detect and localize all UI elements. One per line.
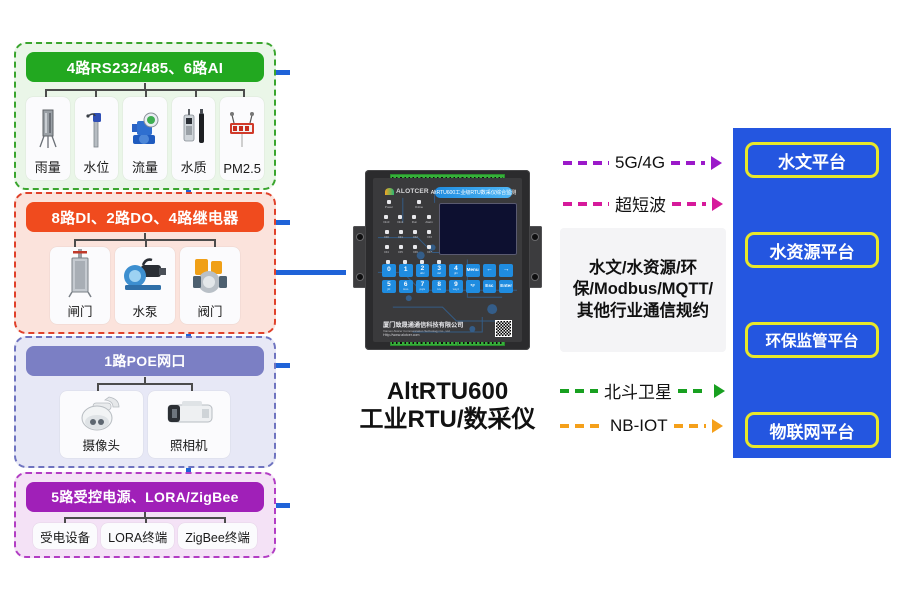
protocol-list-text: 水文/水资源/环保/Modbus/MQTT/其他行业通信规约: [566, 258, 720, 321]
key-0[interactable]: 0: [382, 264, 396, 277]
key-1[interactable]: 1: [399, 264, 413, 277]
sluice-gate-icon: [52, 247, 108, 299]
rtu-keypad[interactable]: 0 1 2abc 3def 4ghi Menu ← → 5jkl 6mno 7p…: [382, 264, 513, 296]
led-din0: Din0: [383, 215, 390, 224]
dash-line-right: [671, 161, 705, 165]
key-right-arrow[interactable]: →: [499, 264, 513, 277]
group-serial-ai: 4路RS232/485、6路AI 雨量: [14, 42, 276, 190]
group-dido-tiles: 闸门 水泵: [26, 247, 264, 324]
device-title-type: 工业RTU/数采仪: [330, 406, 565, 434]
comm-link-5g4g: 5G/4G: [563, 153, 722, 173]
rtu-front-panel: ALOTCER AltRTU600工业级RTU数采仪综合监测 Power Onl…: [373, 178, 522, 342]
led-di7: DI7: [426, 245, 433, 254]
comm-link-nbiot: NB-IOT: [560, 416, 723, 436]
dome-camera-icon: [62, 391, 141, 433]
device-tile-valve[interactable]: 阀门: [180, 247, 240, 324]
device-tile-powered-device[interactable]: 受电设备: [33, 523, 97, 549]
dash-line-left: [560, 389, 598, 393]
key-6[interactable]: 6mno: [399, 280, 413, 293]
key-4[interactable]: 4ghi: [449, 264, 463, 277]
led-din1: Din1: [397, 215, 404, 224]
qr-code-icon: [495, 320, 512, 337]
group-serial-tiles: 雨量 水位: [26, 97, 264, 180]
group-lora-tiles: 受电设备 LORA终端 ZigBee终端: [26, 524, 264, 548]
device-tile-zigbee-terminal[interactable]: ZigBee终端: [178, 523, 257, 549]
keypad-row-1: 0 1 2abc 3def 4ghi Menu ← →: [382, 264, 513, 277]
company-name-cn: 厦门致晟通通信科技有限公司: [383, 320, 463, 329]
device-tile-label: 阀门: [197, 301, 222, 320]
protocol-list-box: 水文/水资源/环保/Modbus/MQTT/其他行业通信规约: [560, 228, 726, 352]
key-5[interactable]: 5jkl: [382, 280, 396, 293]
key-7[interactable]: 7pqrs: [416, 280, 430, 293]
device-title: AltRTU600 工业RTU/数采仪: [330, 378, 565, 435]
model-name-text: AltRTU600工业级RTU数采仪综合监测: [431, 189, 517, 196]
device-tile-bullet-camera[interactable]: 照相机: [148, 391, 231, 458]
group-poe-tiles: 摄像头 照相机: [26, 391, 264, 458]
device-tile-label: 水质: [181, 157, 207, 176]
comm-link-uhf: 超短波: [563, 191, 723, 216]
valve-icon: [182, 251, 238, 299]
diagram-canvas: 4路RS232/485、6路AI 雨量: [0, 0, 900, 600]
device-tile-rain-gauge[interactable]: 雨量: [26, 97, 70, 180]
comm-link-label: 北斗卫星: [604, 378, 672, 403]
rtu-device: ALOTCER AltRTU600工业级RTU数采仪综合监测 Power Onl…: [345, 160, 550, 360]
device-footer-text: 厦门致晟通通信科技有限公司 Xiamen Alotcer Communicati…: [383, 320, 463, 337]
device-tile-label: 水泵: [132, 301, 157, 320]
dash-line-right: [672, 202, 706, 206]
dash-line-left: [563, 202, 609, 206]
group-lora-header: 5路受控电源、LORA/ZigBee: [26, 482, 264, 512]
group-poe-bracket: [26, 377, 264, 391]
group-dido-bracket: [26, 233, 264, 247]
device-tile-label: 摄像头: [82, 435, 120, 454]
led-alarm: Alarm: [425, 215, 433, 224]
water-pump-icon: [117, 251, 173, 299]
lcd-screen: [439, 203, 517, 255]
led-di0: DI0: [383, 230, 390, 239]
key-star-hash[interactable]: *#: [466, 280, 480, 293]
device-tile-label: 照相机: [170, 435, 208, 454]
brand-name: ALOTCER: [396, 188, 429, 195]
water-level-sensor-icon: [77, 101, 117, 155]
pm25-monitor-icon: [222, 101, 262, 159]
rtu-chassis: ALOTCER AltRTU600工业级RTU数采仪综合监测 Power Onl…: [365, 170, 530, 350]
group-di-do-relay: 8路DI、2路DO、4路继电器 闸门: [14, 192, 276, 334]
comm-link-label: 超短波: [615, 191, 666, 216]
device-tile-water-level[interactable]: 水位: [75, 97, 119, 180]
arrow-head-icon: [712, 197, 723, 211]
brand-logo: ALOTCER: [385, 188, 429, 195]
group-serial-header: 4路RS232/485、6路AI: [26, 52, 264, 82]
led-di2: DI2: [412, 230, 419, 239]
water-quality-probe-icon: [174, 101, 214, 155]
platform-hydrology[interactable]: 水文平台: [745, 142, 879, 178]
led-online: Online: [414, 200, 424, 209]
device-tile-water-quality[interactable]: 水质: [172, 97, 216, 180]
device-tile-dome-camera[interactable]: 摄像头: [60, 391, 143, 458]
comm-link-label: 5G/4G: [615, 153, 665, 173]
key-enter[interactable]: Enter: [499, 280, 513, 293]
led-di6: DI6: [412, 245, 419, 254]
platform-environmental-supervision[interactable]: 环保监管平台: [745, 322, 879, 358]
device-tile-label: 闸门: [67, 301, 92, 320]
group-serial-bracket: [26, 83, 264, 97]
arrow-head-icon: [711, 156, 722, 170]
device-tile-lora-terminal[interactable]: LORA终端: [101, 523, 174, 549]
led-di5: DI5: [397, 245, 404, 254]
comm-link-label: NB-IOT: [610, 416, 668, 436]
key-9[interactable]: 9wxyz: [449, 280, 463, 293]
device-tile-pm25[interactable]: PM2.5: [220, 97, 264, 180]
flow-meter-icon: [125, 101, 165, 155]
key-2[interactable]: 2abc: [416, 264, 430, 277]
comm-link-beidou: 北斗卫星: [560, 378, 725, 403]
dash-line-right: [674, 424, 706, 428]
rain-gauge-icon: [28, 101, 68, 155]
model-name-bar: AltRTU600工业级RTU数采仪综合监测: [435, 187, 512, 198]
led-power: Power: [384, 200, 394, 209]
key-menu[interactable]: Menu: [466, 264, 480, 277]
device-tile-flow-meter[interactable]: 流量: [123, 97, 167, 180]
dash-line-left: [560, 424, 604, 428]
mounting-bracket-right: [528, 226, 542, 288]
arrow-head-icon: [712, 419, 723, 433]
brand-mark-icon: [385, 188, 394, 195]
key-left-arrow[interactable]: ←: [483, 264, 497, 277]
platform-water-resources[interactable]: 水资源平台: [745, 232, 879, 268]
group-poe-header: 1路POE网口: [26, 346, 264, 376]
device-title-model: AltRTU600: [330, 378, 565, 406]
key-3[interactable]: 3def: [432, 264, 446, 277]
led-di3: DI3: [426, 230, 433, 239]
group-lora-zigbee: 5路受控电源、LORA/ZigBee 受电设备 LORA终端 ZigBee终端: [14, 472, 276, 558]
group-lora-bracket: [26, 512, 264, 523]
platform-iot[interactable]: 物联网平台: [745, 412, 879, 448]
company-website: Http://www.alotcer.com: [383, 333, 463, 337]
bullet-camera-icon: [150, 395, 229, 433]
device-tile-label: 雨量: [35, 157, 61, 176]
device-tile-label: 水位: [83, 157, 109, 176]
arrow-head-icon: [714, 384, 725, 398]
group-dido-header: 8路DI、2路DO、4路继电器: [26, 202, 264, 232]
device-tile-water-pump[interactable]: 水泵: [115, 247, 175, 324]
key-8[interactable]: 8tuv: [432, 280, 446, 293]
device-tile-sluice-gate[interactable]: 闸门: [50, 247, 110, 324]
keypad-row-2: 5jkl 6mno 7pqrs 8tuv 9wxyz *# Esc Enter: [382, 280, 513, 293]
device-tile-label: 流量: [132, 157, 158, 176]
led-di1: DI1: [397, 230, 404, 239]
led-run: Run: [411, 215, 418, 224]
dash-line-right: [678, 389, 708, 393]
key-esc[interactable]: Esc: [483, 280, 497, 293]
led-di4: DI4: [383, 245, 390, 254]
dash-line-left: [563, 161, 609, 165]
group-poe: 1路POE网口 摄像头: [14, 336, 276, 468]
device-tile-label: PM2.5: [223, 161, 261, 176]
platform-panel: 水文平台 水资源平台 环保监管平台 物联网平台: [733, 128, 891, 458]
